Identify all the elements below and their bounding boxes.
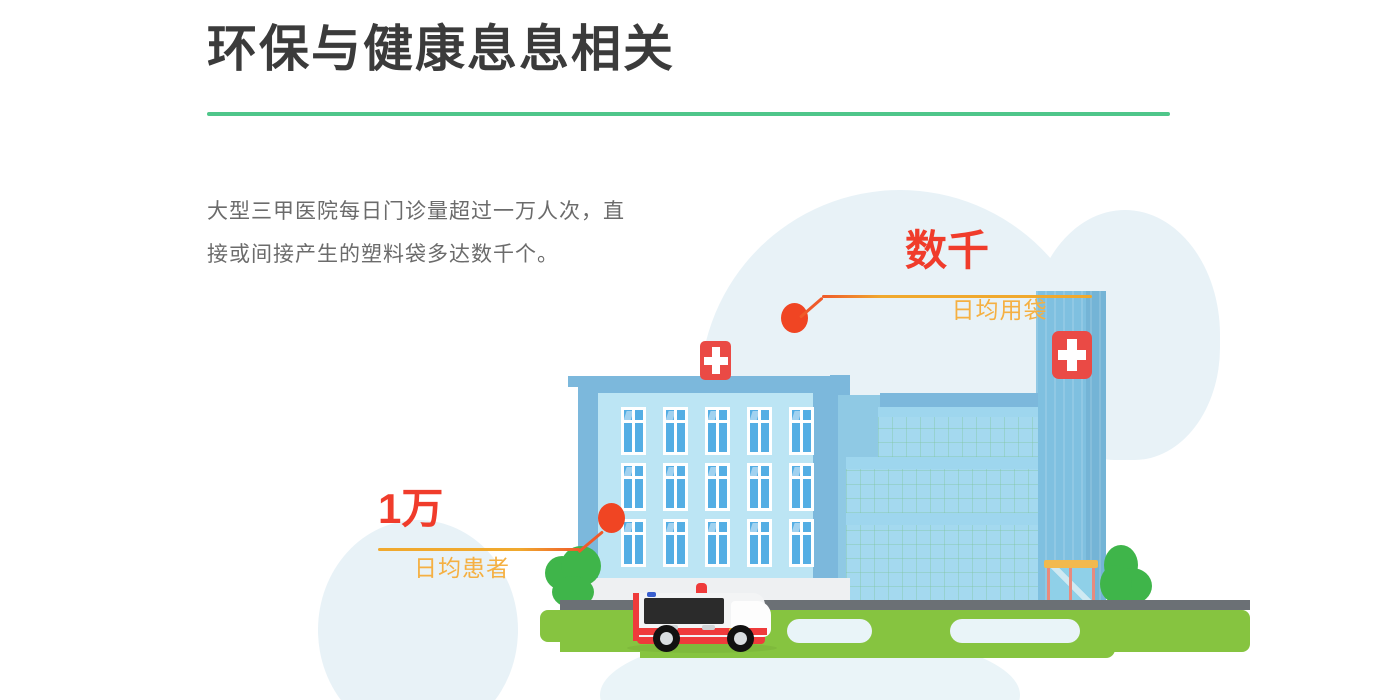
callout-bags: 数千 日均用袋 xyxy=(905,230,1090,325)
midblock-band-1 xyxy=(878,407,1038,417)
window xyxy=(621,463,646,511)
medical-cross-icon-main xyxy=(700,341,731,380)
leader-dot-bags xyxy=(781,303,808,333)
leader-dot-patients xyxy=(598,503,625,533)
window xyxy=(747,519,772,567)
midblock-roof-cap xyxy=(880,393,1038,407)
window xyxy=(621,519,646,567)
window xyxy=(747,407,772,455)
tower-entrance-awning xyxy=(1044,560,1098,568)
tower-entrance-post-right xyxy=(1092,566,1095,602)
tower-entrance-post-left xyxy=(1047,566,1050,602)
midblock-glass-2 xyxy=(846,469,1038,513)
midblock-glass-1 xyxy=(878,417,1038,457)
slide-canvas: 环保与健康息息相关 大型三甲医院每日门诊量超过一万人次，直接或间接产生的塑料袋多… xyxy=(0,0,1400,700)
callout-patients-value: 1万 xyxy=(378,488,546,530)
window xyxy=(705,519,730,567)
window xyxy=(621,407,646,455)
window xyxy=(789,407,814,455)
window xyxy=(663,463,688,511)
medical-cross-icon-tower xyxy=(1052,331,1092,379)
walkway-segment xyxy=(950,619,1080,643)
window xyxy=(789,463,814,511)
midblock-glass-3 xyxy=(846,525,1038,601)
callout-patients: 1万 日均患者 xyxy=(378,488,546,583)
callout-bags-label: 日均用袋 xyxy=(905,291,1090,325)
bush-icon xyxy=(1100,565,1132,603)
window xyxy=(789,519,814,567)
callout-bags-value: 数千 xyxy=(905,230,1090,272)
hospital-illustration xyxy=(0,0,1400,700)
grass-patch-left xyxy=(540,610,610,642)
window xyxy=(663,519,688,567)
midblock-band-3 xyxy=(846,513,1038,525)
midblock-band-2 xyxy=(846,457,1038,469)
window xyxy=(663,407,688,455)
window xyxy=(705,407,730,455)
window xyxy=(705,463,730,511)
tower-entrance-post-mid xyxy=(1069,566,1072,602)
ambulance-icon xyxy=(627,581,777,653)
walkway-segment xyxy=(787,619,872,643)
callout-patients-label: 日均患者 xyxy=(378,549,546,583)
window xyxy=(747,463,772,511)
